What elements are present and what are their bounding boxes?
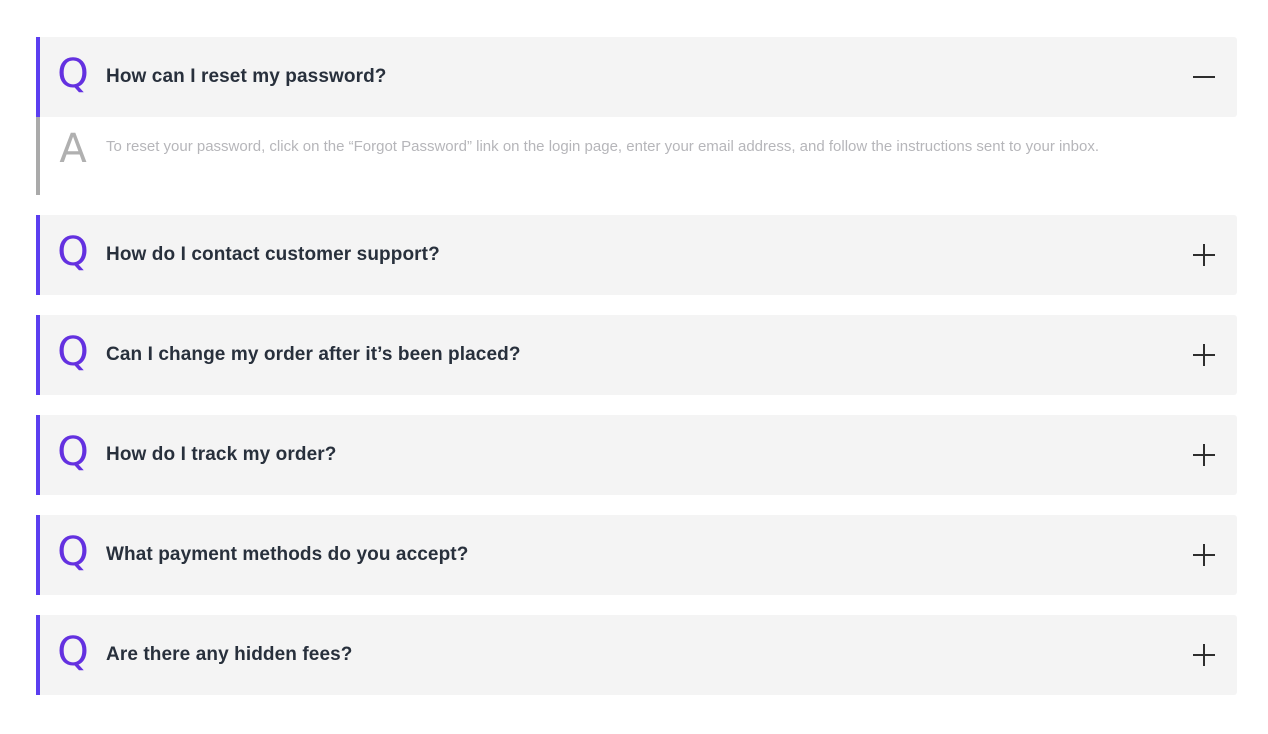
- faq-answer-row-0: A To reset your password, click on the “…: [36, 117, 1237, 195]
- faq-item: Q How can I reset my password? A To rese…: [36, 37, 1237, 195]
- faq-question-row-0[interactable]: Q How can I reset my password?: [36, 37, 1237, 117]
- question-marker-icon: Q: [40, 332, 106, 378]
- faq-question-row-3[interactable]: Q How do I track my order?: [36, 415, 1237, 495]
- answer-marker-icon: A: [40, 129, 106, 173]
- faq-item: Q Can I change my order after it’s been …: [36, 315, 1237, 395]
- faq-item: Q How do I contact customer support? A: [36, 215, 1237, 295]
- faq-question-row-5[interactable]: Q Are there any hidden fees?: [36, 615, 1237, 695]
- faq-question-text: What payment methods do you accept?: [106, 544, 1193, 566]
- faq-item: Q How do I track my order? A: [36, 415, 1237, 495]
- plus-icon[interactable]: [1193, 244, 1215, 266]
- plus-icon-bar: [1203, 344, 1205, 366]
- minus-icon-bar: [1193, 76, 1215, 78]
- plus-icon[interactable]: [1193, 344, 1215, 366]
- faq-accordion: Q How can I reset my password? A To rese…: [36, 37, 1237, 695]
- plus-icon-bar: [1203, 644, 1205, 666]
- faq-question-row-2[interactable]: Q Can I change my order after it’s been …: [36, 315, 1237, 395]
- faq-question-text: Can I change my order after it’s been pl…: [106, 344, 1193, 366]
- faq-question-text: How can I reset my password?: [106, 66, 1193, 88]
- plus-icon-bar: [1203, 444, 1205, 466]
- question-marker-icon: Q: [40, 232, 106, 278]
- faq-answer-text: To reset your password, click on the “Fo…: [106, 129, 1215, 158]
- faq-question-row-1[interactable]: Q How do I contact customer support?: [36, 215, 1237, 295]
- plus-icon[interactable]: [1193, 444, 1215, 466]
- question-marker-icon: Q: [40, 632, 106, 678]
- faq-item: Q What payment methods do you accept? A: [36, 515, 1237, 595]
- plus-icon[interactable]: [1193, 644, 1215, 666]
- question-marker-icon: Q: [40, 432, 106, 478]
- faq-question-text: Are there any hidden fees?: [106, 644, 1193, 666]
- faq-question-text: How do I contact customer support?: [106, 244, 1193, 266]
- faq-question-row-4[interactable]: Q What payment methods do you accept?: [36, 515, 1237, 595]
- faq-item: Q Are there any hidden fees? A: [36, 615, 1237, 695]
- plus-icon[interactable]: [1193, 544, 1215, 566]
- question-marker-icon: Q: [40, 532, 106, 578]
- plus-icon-bar: [1203, 244, 1205, 266]
- plus-icon-bar: [1203, 544, 1205, 566]
- question-marker-icon: Q: [40, 54, 106, 100]
- minus-icon[interactable]: [1193, 66, 1215, 88]
- faq-question-text: How do I track my order?: [106, 444, 1193, 466]
